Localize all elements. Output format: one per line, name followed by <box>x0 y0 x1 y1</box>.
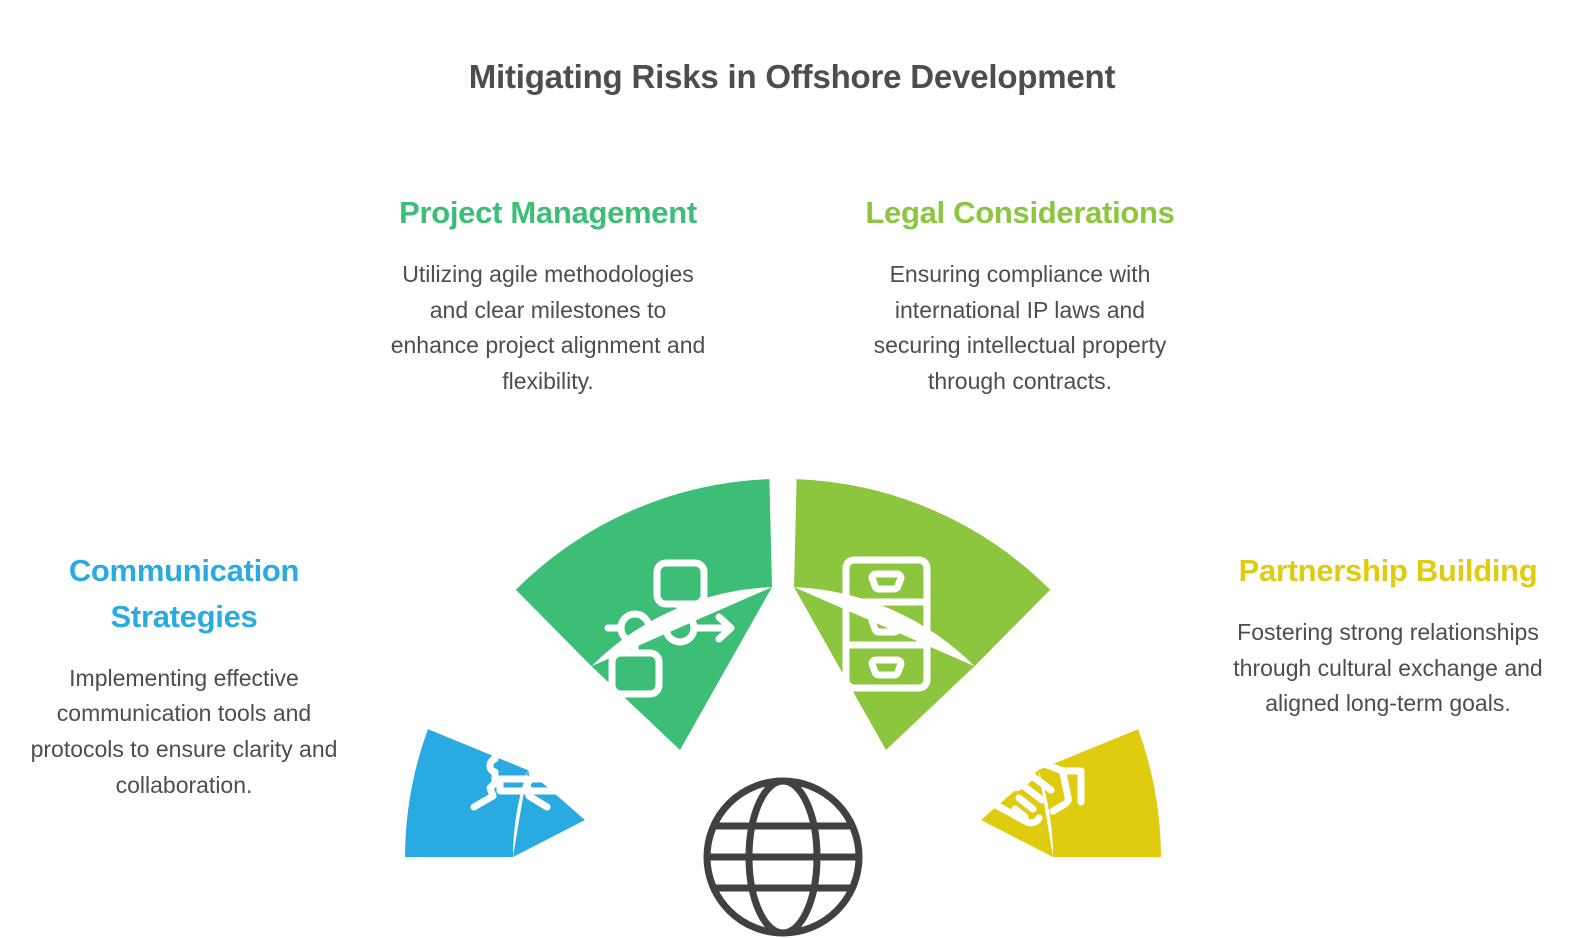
section-body-communication-strategies: Implementing effective communication too… <box>8 661 360 804</box>
half-donut-diagram <box>380 460 1200 938</box>
section-heading-project-management: Project Management <box>384 190 712 236</box>
section-legal-considerations: Legal Considerations Ensuring compliance… <box>858 190 1182 399</box>
section-project-management: Project Management Utilizing agile metho… <box>384 190 712 399</box>
section-heading-communication-strategies: Communication Strategies <box>8 548 360 640</box>
section-heading-partnership-building: Partnership Building <box>1208 548 1568 594</box>
handshake-globe-icon <box>980 717 1081 823</box>
section-communication-strategies: Communication Strategies Implementing ef… <box>8 548 360 803</box>
baseline-mask <box>380 857 1200 938</box>
video-call-icon <box>474 718 603 807</box>
infographic-canvas: Mitigating Risks in Offshore Development… <box>0 0 1584 938</box>
segment-partnership-building[interactable] <box>1039 729 1162 857</box>
section-body-partnership-building: Fostering strong relationships through c… <box>1208 615 1568 722</box>
page-title: Mitigating Risks in Offshore Development <box>0 58 1584 96</box>
section-partnership-building: Partnership Building Fostering strong re… <box>1208 548 1568 722</box>
section-body-legal-considerations: Ensuring compliance with international I… <box>858 257 1182 400</box>
section-heading-legal-considerations: Legal Considerations <box>858 190 1182 236</box>
section-body-project-management: Utilizing agile methodologies and clear … <box>384 257 712 400</box>
